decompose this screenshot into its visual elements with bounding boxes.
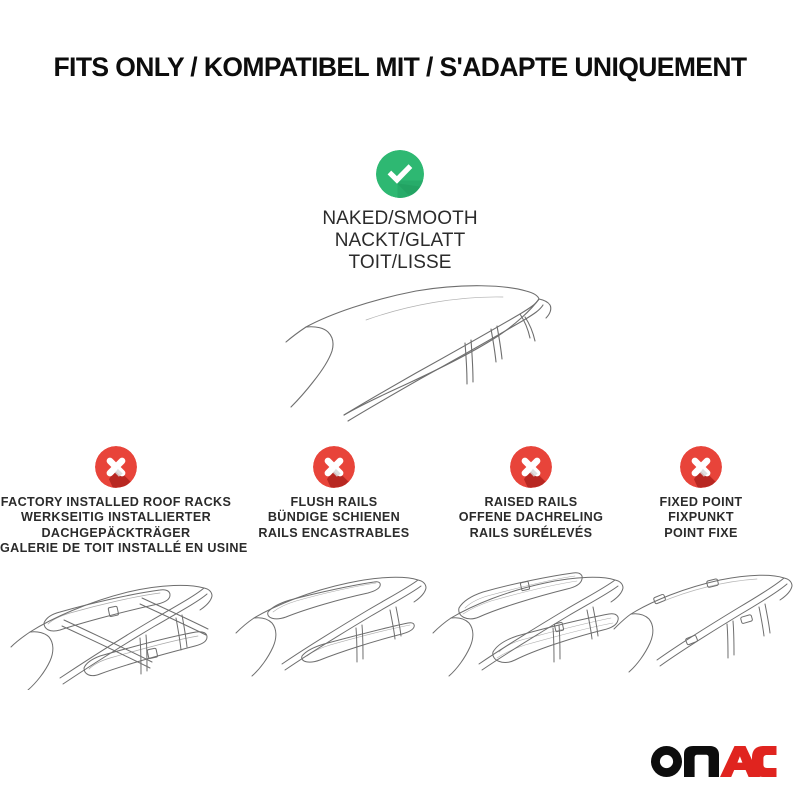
compatible-label-en: NAKED/SMOOTH bbox=[250, 208, 550, 230]
incompatible-item-factory-roof-racks: FACTORY INSTALLED ROOF RACKS WERKSEITIG … bbox=[0, 446, 232, 695]
incompatible-label: RAISED RAILS OFFENE DACHRELING RAILS SUR… bbox=[425, 495, 637, 541]
smooth-roof-illustration bbox=[258, 272, 568, 437]
incompatible-label-line: RAISED RAILS bbox=[425, 495, 637, 510]
logo-letter-m bbox=[684, 746, 719, 777]
raised-rails-illustration bbox=[425, 560, 637, 685]
incompatible-label-line: GALERIE DE TOIT INSTALLÉ EN USINE bbox=[0, 541, 232, 556]
compatible-label-de: NACKT/GLATT bbox=[250, 230, 550, 252]
compatible-label-fr: TOIT/LISSE bbox=[250, 252, 550, 274]
factory-roof-rack-illustration bbox=[0, 560, 232, 695]
incompatible-label-line: FACTORY INSTALLED ROOF RACKS bbox=[0, 495, 232, 510]
incompatible-label-line: BÜNDIGE SCHIENEN bbox=[228, 510, 440, 525]
incompatible-label: FLUSH RAILS BÜNDIGE SCHIENEN RAILS ENCAS… bbox=[228, 495, 440, 541]
incompatible-label-line: RAILS ENCASTRABLES bbox=[228, 526, 440, 541]
incompatible-label: FIXED POINT FIXPUNKT POINT FIXE bbox=[607, 495, 795, 541]
compatible-roof-type: NAKED/SMOOTH NACKT/GLATT TOIT/LISSE bbox=[250, 150, 550, 274]
incompatible-item-fixed-point: FIXED POINT FIXPUNKT POINT FIXE bbox=[607, 446, 795, 685]
incompatible-badge-wrap bbox=[228, 446, 440, 488]
incompatible-item-flush-rails: FLUSH RAILS BÜNDIGE SCHIENEN RAILS ENCAS… bbox=[228, 446, 440, 685]
incompatible-label-line: FIXED POINT bbox=[607, 495, 795, 510]
incompatible-label-line: POINT FIXE bbox=[607, 526, 795, 541]
incompatible-badge-wrap bbox=[0, 446, 232, 488]
compatible-label: NAKED/SMOOTH NACKT/GLATT TOIT/LISSE bbox=[250, 208, 550, 274]
incompatible-label-line: DACHGEPÄCKTRÄGER bbox=[0, 526, 232, 541]
x-circle-icon bbox=[95, 446, 137, 488]
incompatible-roof-types: FACTORY INSTALLED ROOF RACKS WERKSEITIG … bbox=[0, 446, 800, 696]
incompatible-badge-wrap bbox=[425, 446, 637, 488]
incompatible-label-line: OFFENE DACHRELING bbox=[425, 510, 637, 525]
incompatible-label-line: FLUSH RAILS bbox=[228, 495, 440, 510]
fixed-point-illustration bbox=[607, 560, 795, 685]
page-title: FITS ONLY / KOMPATIBEL MIT / S'ADAPTE UN… bbox=[0, 52, 800, 83]
x-circle-icon bbox=[510, 446, 552, 488]
incompatible-badge-wrap bbox=[607, 446, 795, 488]
incompatible-label-line: FIXPUNKT bbox=[607, 510, 795, 525]
x-circle-icon bbox=[680, 446, 722, 488]
omac-logo bbox=[650, 744, 778, 778]
incompatible-label-line: RAILS SURÉLEVÉS bbox=[425, 526, 637, 541]
flush-rails-illustration bbox=[228, 560, 440, 685]
compatible-badge-wrap bbox=[250, 150, 550, 198]
logo-letter-c bbox=[752, 746, 777, 777]
logo-letter-o bbox=[651, 746, 682, 777]
incompatible-label: FACTORY INSTALLED ROOF RACKS WERKSEITIG … bbox=[0, 495, 232, 556]
check-circle-icon bbox=[376, 150, 424, 198]
x-circle-icon bbox=[313, 446, 355, 488]
incompatible-item-raised-rails: RAISED RAILS OFFENE DACHRELING RAILS SUR… bbox=[425, 446, 637, 685]
incompatible-label-line: WERKSEITIG INSTALLIERTER bbox=[0, 510, 232, 525]
